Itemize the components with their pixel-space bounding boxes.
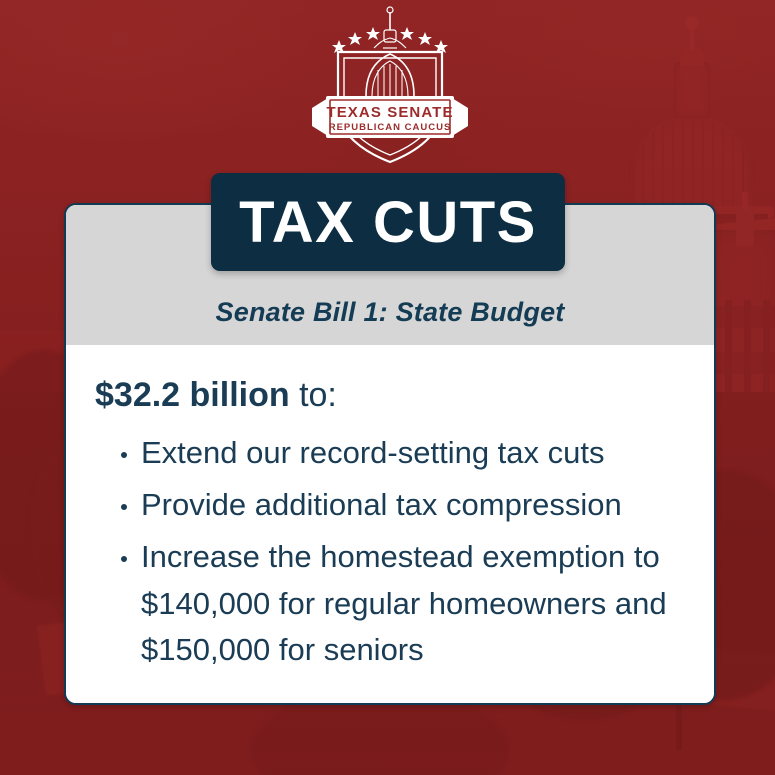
- list-item: Provide additional tax compression: [118, 482, 696, 528]
- lead-amount: $32.2 billion: [95, 376, 290, 414]
- list-item-text: Increase the homestead exemption to $140…: [141, 539, 667, 666]
- title-banner: TAX CUTS: [211, 173, 565, 271]
- logo-line2: REPUBLICAN CAUCUS: [329, 122, 452, 133]
- lead-statement: $32.2 billion to:: [95, 376, 337, 415]
- bullet-dot-icon: [121, 504, 127, 510]
- texas-senate-republican-caucus-logo: TEXAS SENATE REPUBLICAN CAUCUS: [300, 4, 480, 170]
- card-subtitle: Senate Bill 1: State Budget: [66, 297, 714, 328]
- bullet-dot-icon: [121, 452, 127, 458]
- logo-svg: TEXAS SENATE REPUBLICAN CAUCUS: [300, 4, 480, 170]
- list-item-text: Extend our record-setting tax cuts: [141, 435, 605, 470]
- card-body: $32.2 billion to: Extend our record-sett…: [66, 345, 714, 703]
- list-item: Increase the homestead exemption to $140…: [118, 534, 696, 673]
- logo-line1: TEXAS SENATE: [326, 104, 453, 121]
- list-item: Extend our record-setting tax cuts: [118, 430, 696, 476]
- page-title: TAX CUTS: [211, 173, 565, 271]
- benefits-list: Extend our record-setting tax cuts Provi…: [118, 430, 696, 679]
- graphic-canvas: TEXAS SENATE REPUBLICAN CAUCUS Senate Bi…: [0, 0, 775, 775]
- list-item-text: Provide additional tax compression: [141, 487, 622, 522]
- content-card: Senate Bill 1: State Budget $32.2 billio…: [64, 203, 716, 705]
- bullet-dot-icon: [121, 556, 127, 562]
- lead-suffix: to:: [290, 376, 337, 414]
